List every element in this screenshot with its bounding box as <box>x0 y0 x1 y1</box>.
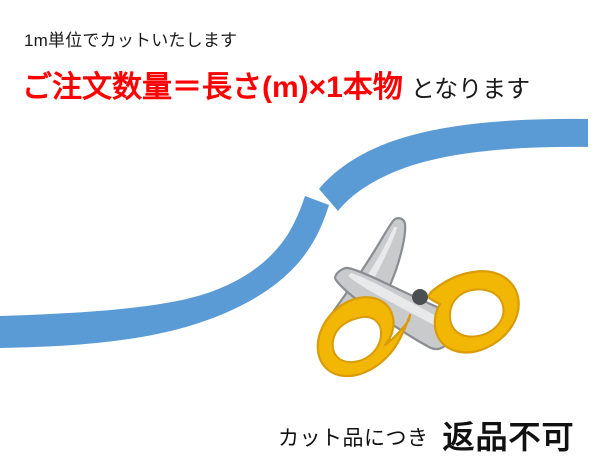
footer-note: カット品につき返品不可 <box>278 412 575 458</box>
scissors-pivot-icon <box>412 289 428 305</box>
footer-prefix: カット品につき <box>278 427 429 450</box>
headline-emphasis-red: ご注文数量＝長さ(m)×1本物 <box>22 71 403 104</box>
headline-line-2: ご注文数量＝長さ(m)×1本物となります <box>22 70 530 108</box>
cable-right-segment <box>319 119 588 211</box>
cable-left-segment <box>0 196 329 348</box>
scissors <box>318 218 519 376</box>
footer-emphasis: 返品不可 <box>443 419 575 455</box>
headline-line-2-tail: となります <box>411 76 530 103</box>
headline-line-1: 1m単位でカットいたします <box>24 30 237 52</box>
notice-canvas: 1m単位でカットいたします ご注文数量＝長さ(m)×1本物となります カット品に… <box>0 0 600 466</box>
